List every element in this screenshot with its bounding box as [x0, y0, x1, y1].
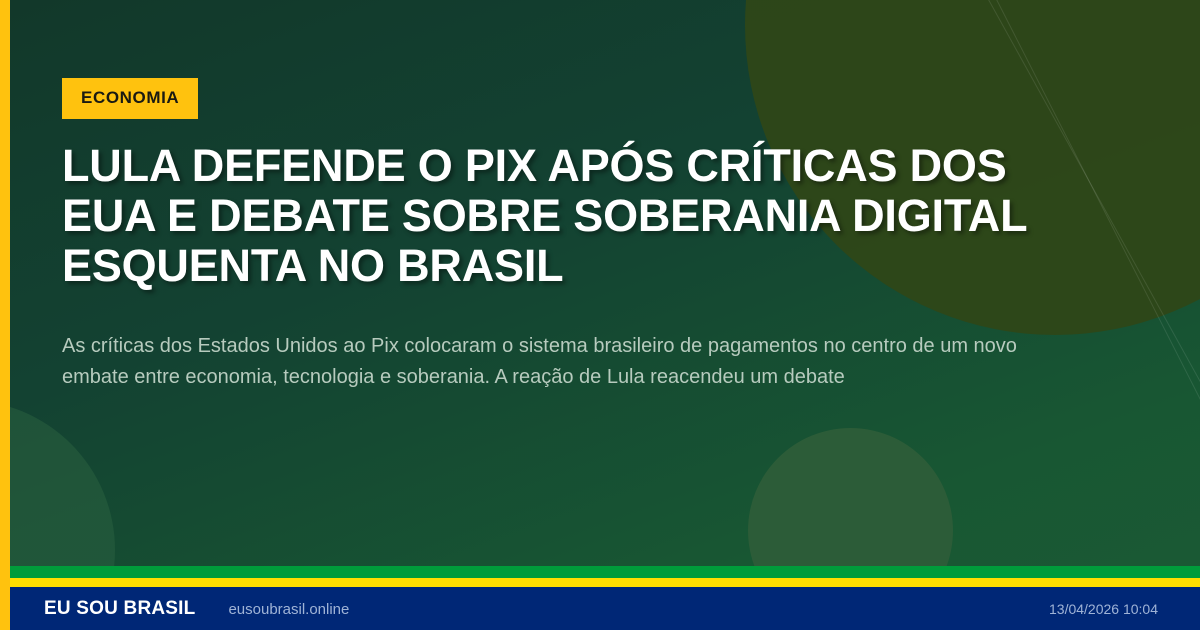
site-url[interactable]: eusoubrasil.online: [228, 601, 349, 618]
footer-timestamp: 13/04/2026 10:04: [1049, 601, 1158, 617]
brand-name: EU SOU BRASIL: [44, 598, 195, 620]
flag-stripe-green: [0, 566, 1200, 578]
flag-stripe-yellow: [0, 578, 1200, 587]
headline: LULA DEFENDE O PIX APÓS CRÍTICAS DOS EUA…: [62, 141, 1077, 291]
footer-brand-group: EU SOU BRASIL eusoubrasil.online: [44, 598, 349, 620]
social-share-card: ECONOMIA LULA DEFENDE O PIX APÓS CRÍTICA…: [0, 0, 1200, 630]
category-badge: ECONOMIA: [62, 78, 198, 119]
card-content: ECONOMIA LULA DEFENDE O PIX APÓS CRÍTICA…: [62, 78, 1092, 393]
footer-bar: EU SOU BRASIL eusoubrasil.online 13/04/2…: [0, 587, 1200, 630]
subtitle: As críticas dos Estados Unidos ao Pix co…: [62, 331, 1062, 393]
left-accent-bar: [0, 0, 10, 630]
